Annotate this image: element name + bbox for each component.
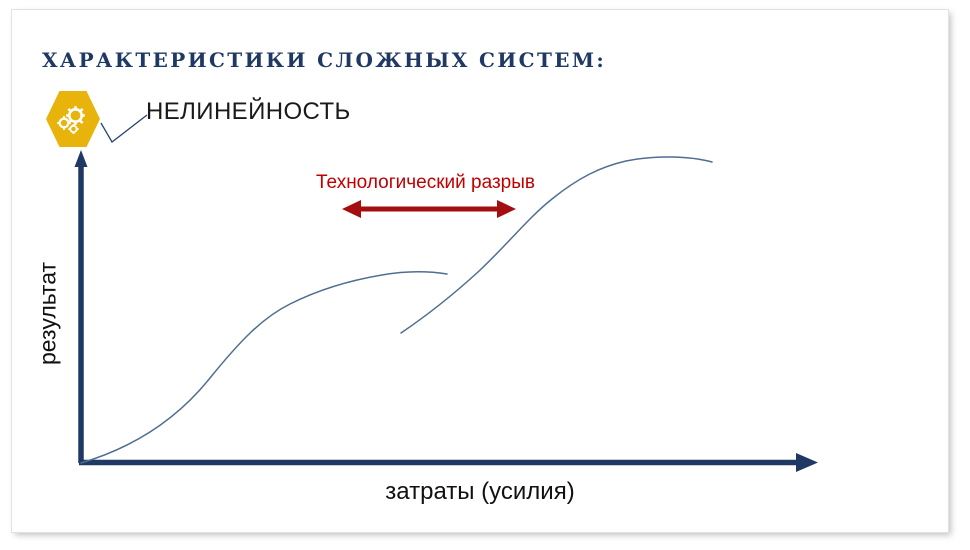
s-curve-first xyxy=(81,272,447,463)
technology-gap-label: Технологический разрыв xyxy=(316,172,535,194)
slide-root: ХАРАКТЕРИСТИКИ СЛОЖНЫХ СИСТЕМ: xyxy=(0,0,970,550)
y-axis xyxy=(75,150,88,463)
y-axis-title: результат xyxy=(35,244,62,384)
x-axis-title: затраты (усилия) xyxy=(280,478,680,506)
technology-gap-arrow xyxy=(342,200,516,218)
s-curve-chart xyxy=(0,0,970,550)
x-axis xyxy=(79,453,818,472)
